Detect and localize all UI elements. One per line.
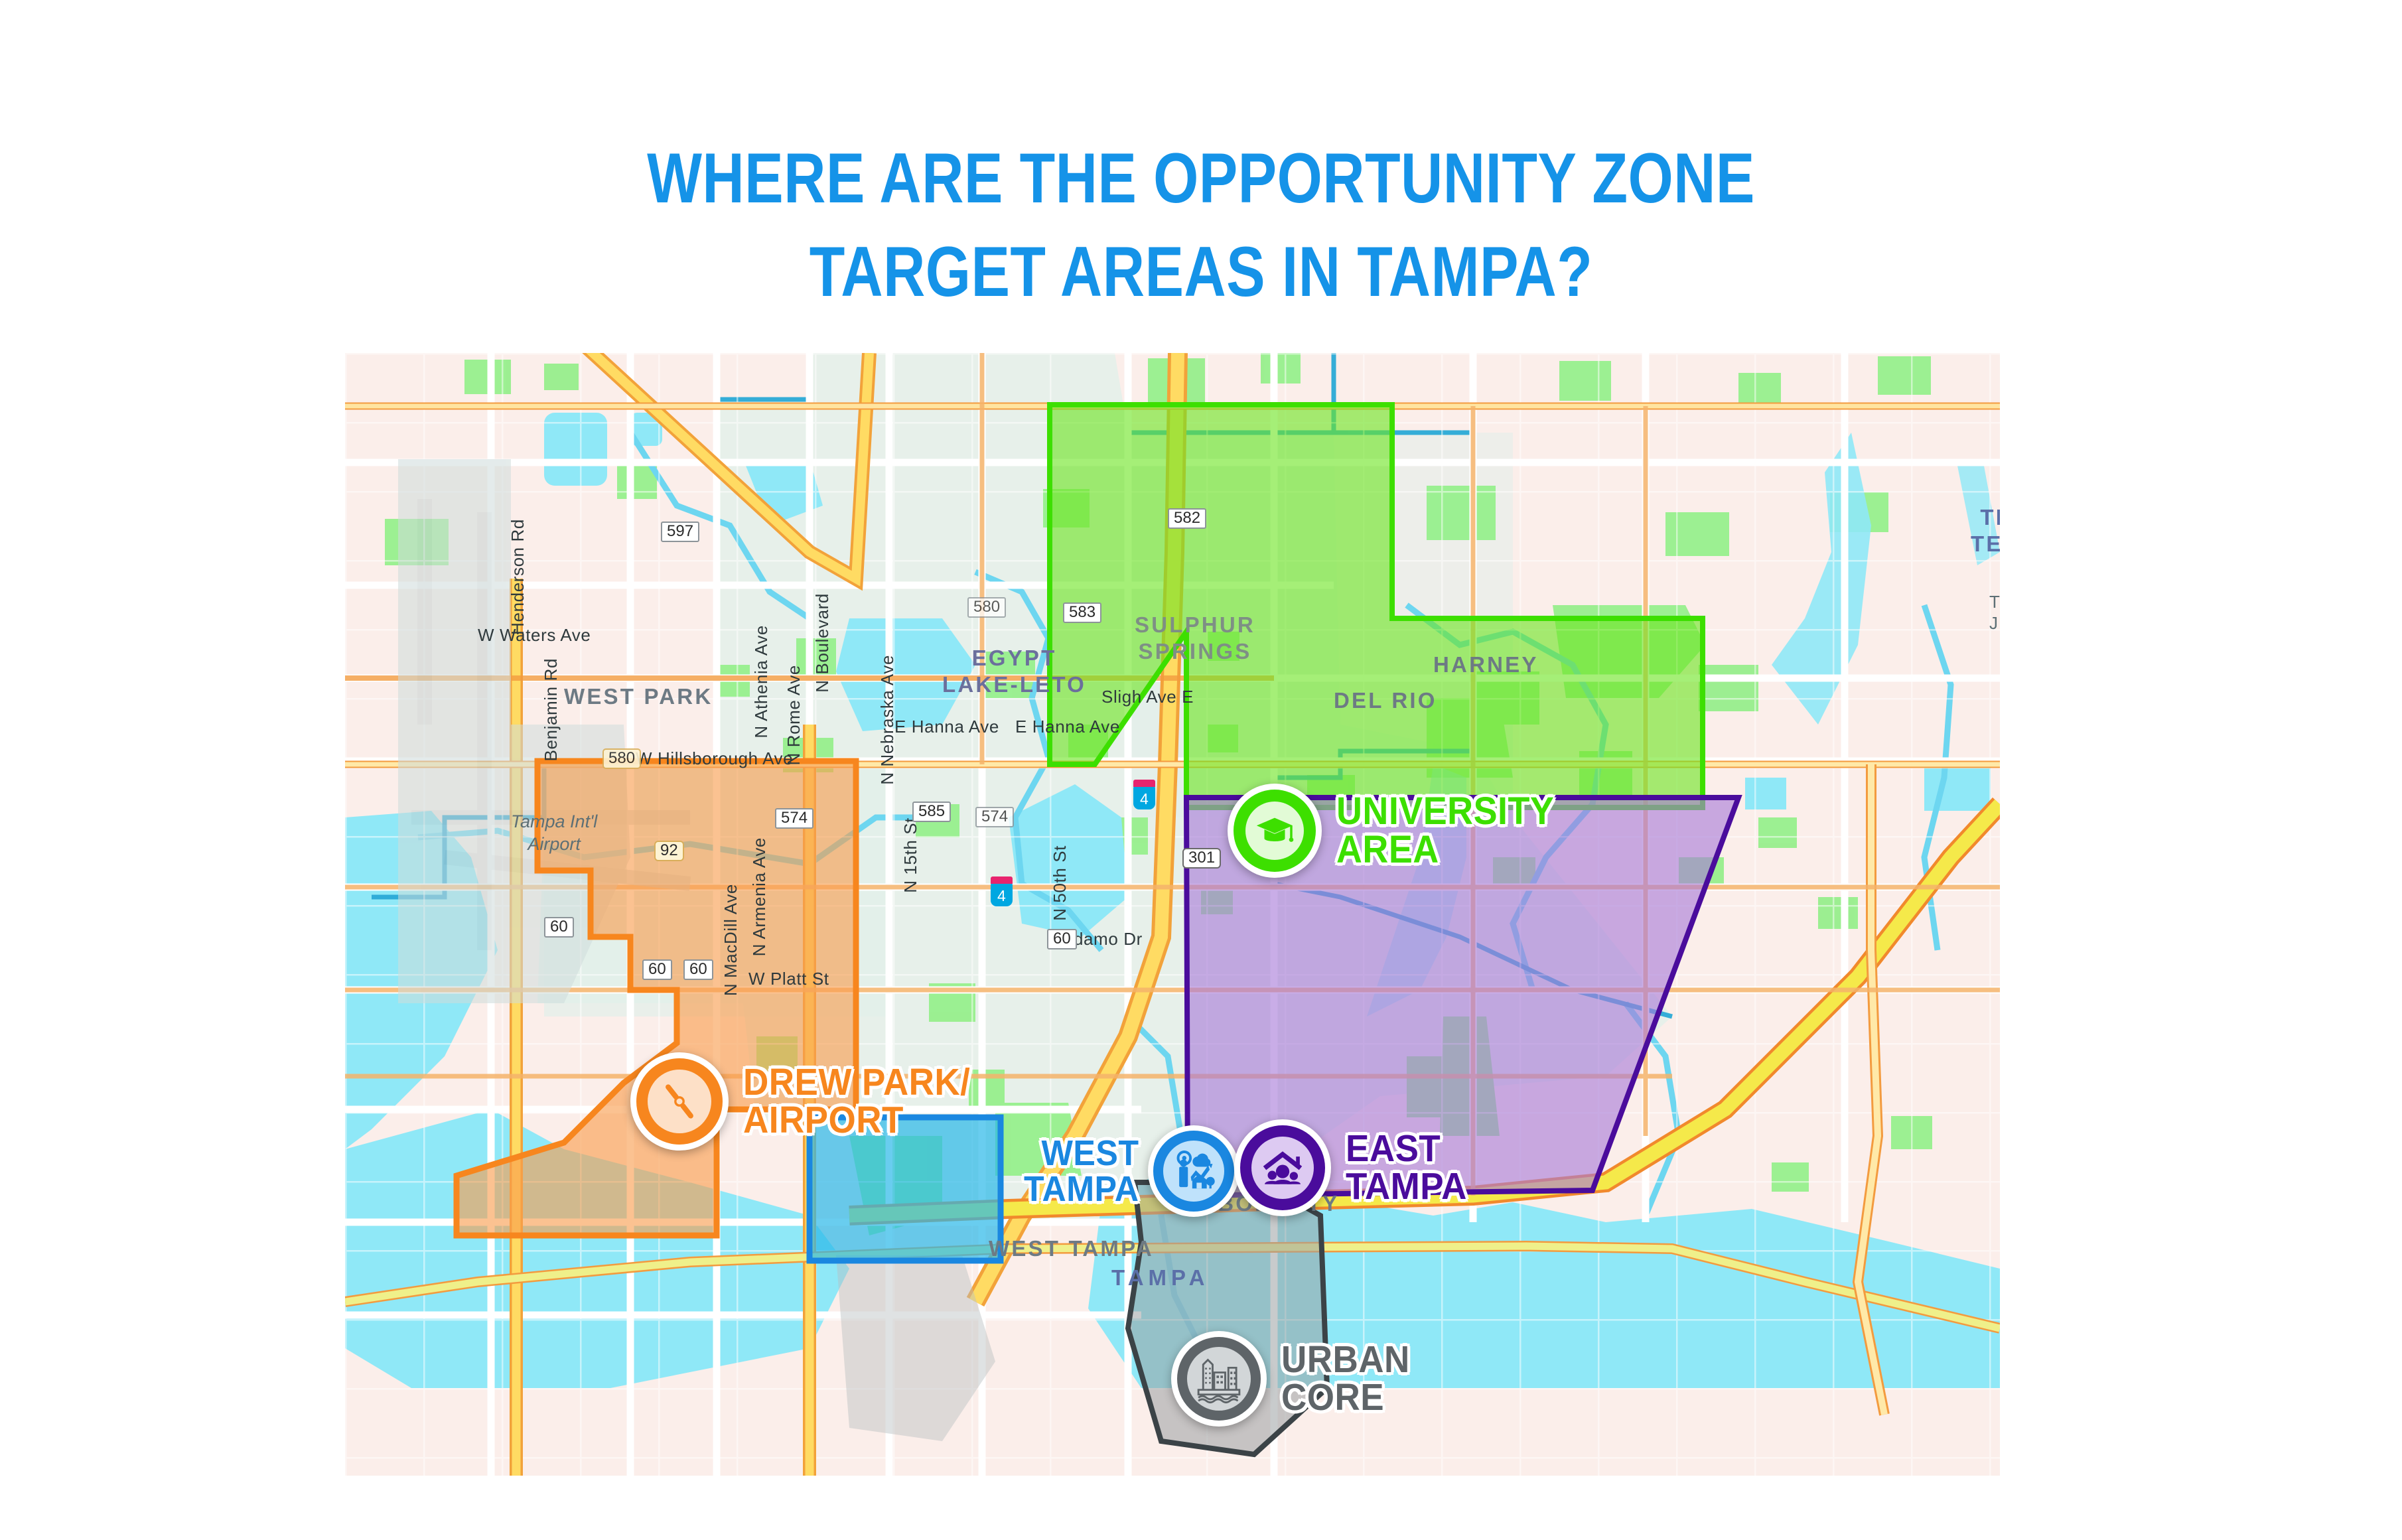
zone-polygon-drew-park-airport[interactable] [457, 761, 856, 1235]
zone-polygon-university-area[interactable] [1050, 405, 1703, 807]
zone-badge-east-tampa[interactable]: EAST TAMPA [1234, 1119, 1476, 1216]
urban-core-label-line2: CORE [1281, 1379, 1410, 1417]
house-people-icon [1259, 1144, 1307, 1192]
urban-core-ring [1177, 1337, 1261, 1421]
university-area-inner [1245, 802, 1304, 860]
east-tampa-inner [1251, 1137, 1314, 1199]
drew-park-ring [636, 1058, 723, 1145]
route-shield-60-west[interactable]: 60 [544, 917, 574, 938]
graduation-cap-icon [1254, 810, 1295, 851]
page-title: WHERE ARE THE OPPORTUNITY ZONE TARGET AR… [216, 131, 2186, 318]
route-shield-60-adamo[interactable]: 60 [1047, 929, 1077, 949]
urban-core-label-line1: URBAN [1281, 1341, 1410, 1379]
east-tampa-label-line2: TAMPA [1346, 1168, 1467, 1206]
urban-core-label: URBAN CORE [1281, 1341, 1410, 1417]
route-shield-574-west[interactable]: 574 [775, 808, 813, 829]
route-shield-582[interactable]: 582 [1168, 508, 1206, 529]
route-shield-580-hillsborough[interactable]: 580 [602, 748, 641, 769]
page-title-line-2: TARGET AREAS IN TAMPA? [216, 225, 2186, 318]
route-shield-580-university[interactable]: 580 [967, 597, 1006, 618]
west-tampa-label-line2: TAMPA [1024, 1171, 1139, 1207]
route-shield-60-mid2[interactable]: 60 [683, 959, 713, 980]
route-shield-585[interactable]: 585 [912, 802, 951, 822]
university-area-ring [1234, 790, 1316, 872]
route-shield-60-mid[interactable]: 60 [642, 959, 672, 980]
route-shield-i4-downtown[interactable]: 4 [991, 882, 1013, 906]
west-tampa-ring [1153, 1131, 1234, 1212]
drew-park-label-line2: AIRPORT [743, 1101, 970, 1139]
page-title-line-1: WHERE ARE THE OPPORTUNITY ZONE [216, 131, 2186, 225]
east-tampa-label-line1: EAST [1346, 1130, 1467, 1168]
route-shield-583[interactable]: 583 [1063, 602, 1101, 623]
community-development-icon [1170, 1148, 1217, 1194]
west-tampa-label-line1: WEST [1024, 1135, 1139, 1171]
route-shield-us-92[interactable]: 92 [654, 841, 684, 861]
drew-park-badge-disc[interactable] [630, 1052, 729, 1151]
drew-park-inner [648, 1070, 711, 1133]
zone-badge-west-tampa[interactable]: WEST TAMPA [1015, 1125, 1239, 1217]
route-shield-574-east[interactable]: 574 [975, 807, 1014, 827]
urban-core-inner [1187, 1347, 1251, 1411]
tampa-opportunity-zone-map[interactable]: TEMPLETERRACE SULPHURSPRINGS EGYPTLAKE-L… [345, 353, 2000, 1476]
route-shield-597[interactable]: 597 [661, 522, 699, 542]
east-tampa-label: EAST TAMPA [1346, 1130, 1467, 1206]
propeller-icon [656, 1078, 703, 1125]
drew-park-label-line1: DREW PARK/ [743, 1064, 970, 1101]
west-tampa-inner [1163, 1141, 1224, 1202]
west-tampa-label: WEST TAMPA [1024, 1135, 1139, 1207]
west-tampa-badge-disc[interactable] [1148, 1125, 1239, 1217]
drew-park-label: DREW PARK/ AIRPORT [743, 1064, 970, 1139]
university-area-badge-disc[interactable] [1228, 784, 1322, 878]
university-area-label-line2: AREA [1336, 831, 1554, 869]
city-skyline-icon [1194, 1354, 1244, 1404]
university-area-label-line1: UNIVERSITY [1336, 792, 1554, 831]
zone-badge-drew-park-airport[interactable]: DREW PARK/ AIRPORT [345, 1052, 987, 1151]
route-shield-us-301[interactable]: 301 [1182, 848, 1221, 869]
east-tampa-badge-disc[interactable] [1234, 1119, 1331, 1216]
route-shield-i4-north[interactable]: 4 [1133, 786, 1155, 809]
university-area-label: UNIVERSITY AREA [1336, 792, 1554, 869]
urban-core-badge-disc[interactable] [1171, 1331, 1267, 1427]
zone-badge-university-area[interactable]: UNIVERSITY AREA [1228, 784, 1571, 878]
east-tampa-ring [1240, 1125, 1325, 1210]
zone-badge-urban-core[interactable]: URBAN CORE [1171, 1331, 1419, 1427]
